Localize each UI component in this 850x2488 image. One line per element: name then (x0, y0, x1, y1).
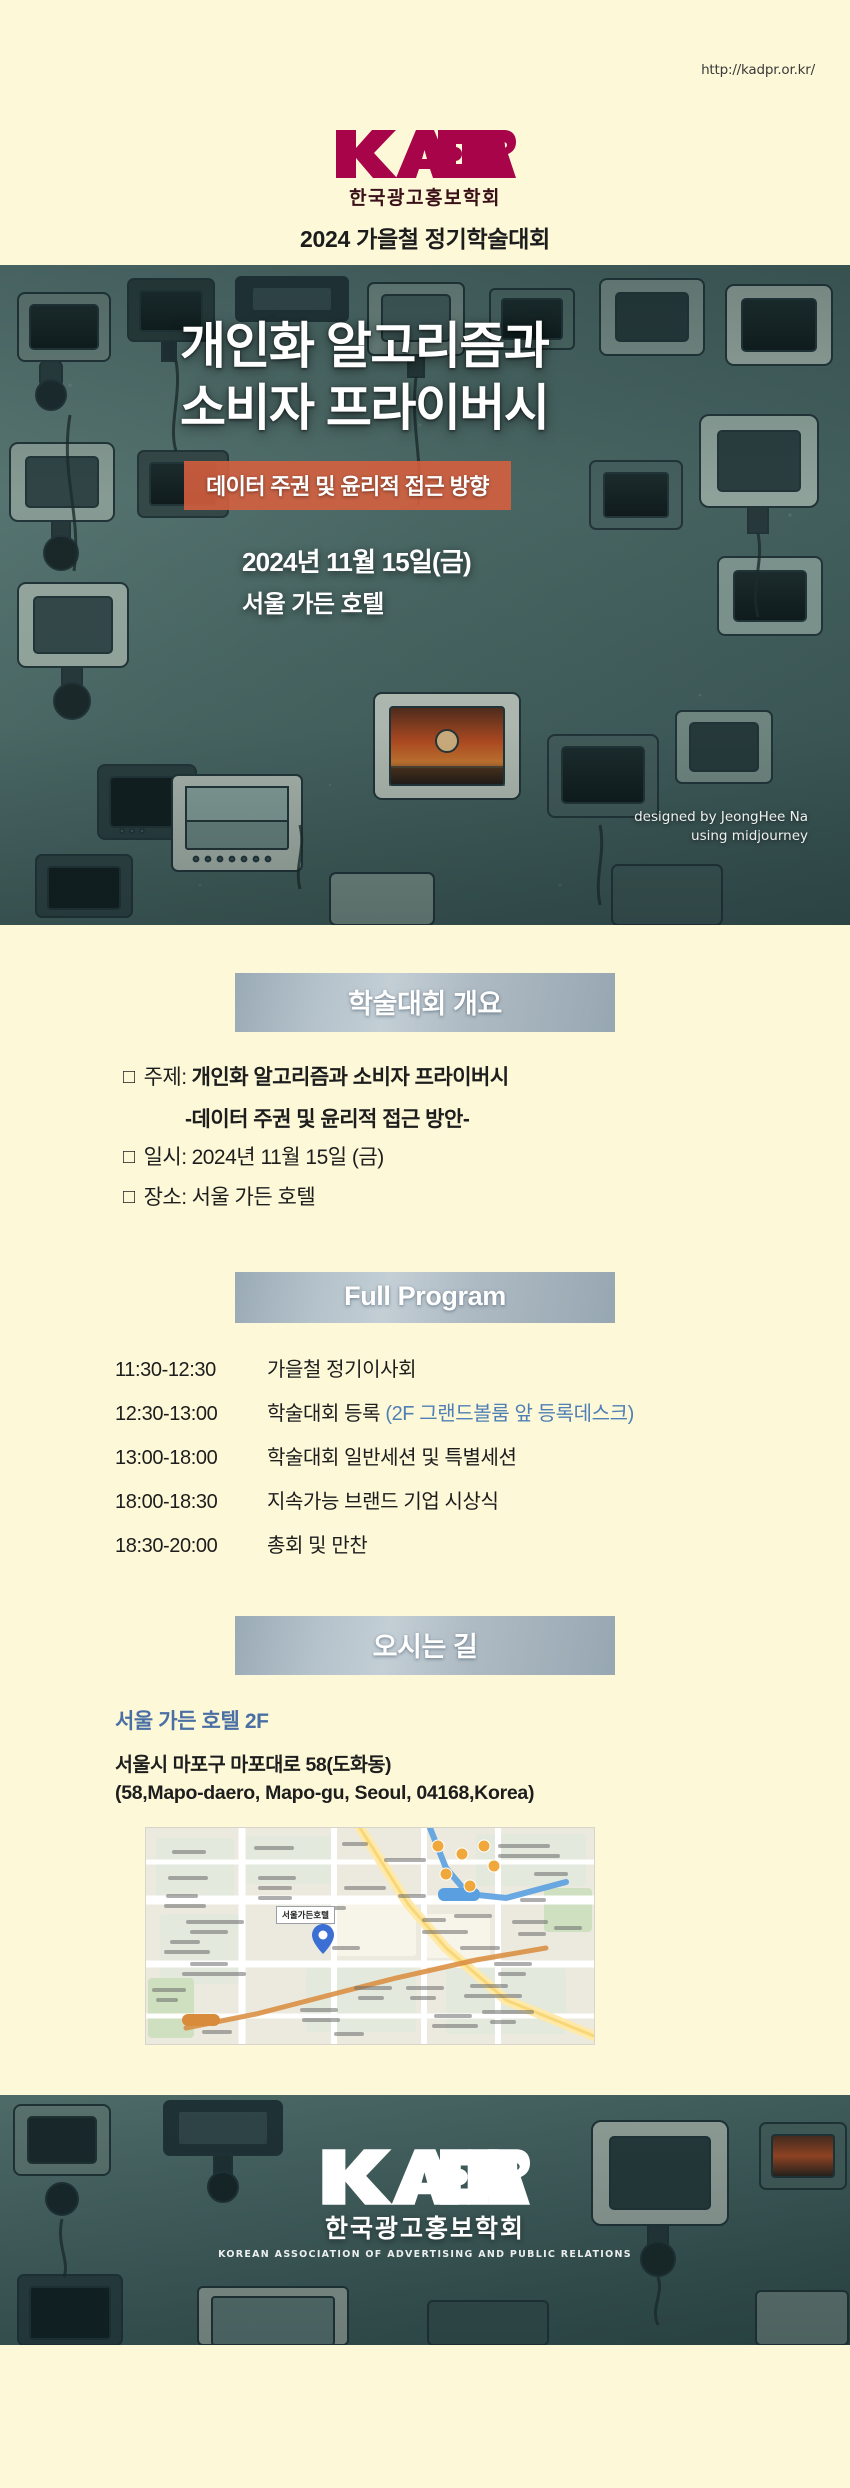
directions-venue: 서울 가든 호텔 2F (115, 1705, 745, 1735)
hero-text-block: 개인화 알고리즘과 소비자 프라이버시 데이터 주권 및 윤리적 접근 방향 2… (0, 315, 850, 619)
credit-line-2: using midjourney (634, 827, 808, 847)
program-row: 13:00-18:00 학술대회 일반세션 및 특별세션 (115, 1441, 745, 1470)
event-title: 2024 가을철 정기학술대회 (0, 220, 850, 254)
overview-label-date: 일시: (144, 1142, 187, 1174)
location-map[interactable]: 서울가든호텔 (145, 1827, 595, 2045)
directions-address-ko: 서울시 마포구 마포대로 58(도화동) (115, 1748, 745, 1777)
credit-line-1: designed by JeongHee Na (634, 808, 808, 828)
hero-date: 2024년 11월 15일(금) (242, 542, 850, 579)
overview-value-date: 2024년 11월 15일 (금) (192, 1142, 384, 1174)
program-desc: 가을철 정기이사회 (267, 1353, 745, 1382)
overview-label-place: 장소: (144, 1182, 187, 1214)
program-time: 11:30-12:30 (115, 1359, 267, 1382)
map-pin-icon (312, 1924, 334, 1954)
footer-brand-block: 한국광고홍보학회 KOREAN ASSOCIATION OF ADVERTISI… (0, 2147, 850, 2260)
overview-item-topic: □ 주제: 개인화 알고리즘과 소비자 프라이버시 (123, 1062, 735, 1094)
program-row: 12:30-13:00 학술대회 등록 (2F 그랜드볼룸 앞 등록데스크) (115, 1397, 745, 1426)
program-desc: 지속가능 브랜드 기업 시상식 (267, 1485, 745, 1514)
program-desc: 학술대회 일반세션 및 특별세션 (267, 1441, 745, 1470)
directions-address-en: (58,Mapo-daero, Mapo-gu, Seoul, 04168,Ko… (115, 1782, 745, 1805)
hero-subtitle-badge: 데이터 주권 및 윤리적 접근 방향 (184, 461, 511, 510)
program-desc: 총회 및 만찬 (267, 1529, 745, 1558)
program-heading: Full Program (235, 1272, 615, 1323)
program-time: 18:00-18:30 (115, 1491, 267, 1514)
header-brand-block: 한국광고홍보학회 2024 가을철 정기학술대회 (0, 128, 850, 254)
hero-title-line-2: 소비자 프라이버시 (180, 377, 850, 439)
overview-value-place: 서울 가든 호텔 (192, 1182, 316, 1214)
program-section: Full Program 11:30-12:30 가을철 정기이사회 12:30… (0, 1272, 850, 1558)
checkbox-icon: □ (123, 1062, 135, 1092)
website-url[interactable]: http://kadpr.or.kr/ (701, 62, 815, 78)
footer-association-en: KOREAN ASSOCIATION OF ADVERTISING AND PU… (0, 2249, 850, 2260)
overview-label-topic: 주제: (144, 1062, 187, 1094)
program-note: (2F 그랜드볼룸 앞 등록데스크) (385, 1403, 634, 1425)
program-row: 18:30-20:00 총회 및 만찬 (115, 1529, 745, 1558)
checkbox-icon: □ (123, 1142, 135, 1172)
overview-subtitle-topic: -데이터 주권 및 윤리적 접근 방안- (185, 1103, 735, 1133)
map-graphic (146, 1828, 594, 2044)
association-name-ko: 한국광고홍보학회 (0, 183, 850, 210)
program-list: 11:30-12:30 가을철 정기이사회 12:30-13:00 학술대회 등… (105, 1353, 745, 1558)
program-row: 11:30-12:30 가을철 정기이사회 (115, 1353, 745, 1382)
overview-list: □ 주제: 개인화 알고리즘과 소비자 프라이버시 -데이터 주권 및 윤리적 … (115, 1062, 735, 1214)
program-time: 18:30-20:00 (115, 1535, 267, 1558)
overview-section: 학술대회 개요 □ 주제: 개인화 알고리즘과 소비자 프라이버시 -데이터 주… (0, 973, 850, 1214)
hero-title-line-1: 개인화 알고리즘과 (180, 315, 850, 377)
overview-value-topic: 개인화 알고리즘과 소비자 프라이버시 (192, 1062, 509, 1094)
map-venue-label: 서울가든호텔 (276, 1906, 335, 1924)
checkbox-icon: □ (123, 1182, 135, 1212)
directions-block: 서울 가든 호텔 2F 서울시 마포구 마포대로 58(도화동) (58,Map… (105, 1705, 745, 2045)
kadpr-logo (334, 128, 516, 180)
overview-item-place: □ 장소: 서울 가든 호텔 (123, 1182, 735, 1214)
directions-heading: 오시는 길 (235, 1616, 615, 1675)
footer-association-ko: 한국광고홍보학회 (0, 2209, 850, 2245)
hero-section: 개인화 알고리즘과 소비자 프라이버시 데이터 주권 및 윤리적 접근 방향 2… (0, 265, 850, 925)
poster-header: http://kadpr.or.kr/ 한국 (0, 0, 850, 265)
program-time: 12:30-13:00 (115, 1403, 267, 1426)
program-row: 18:00-18:30 지속가능 브랜드 기업 시상식 (115, 1485, 745, 1514)
poster-body: 학술대회 개요 □ 주제: 개인화 알고리즘과 소비자 프라이버시 -데이터 주… (0, 925, 850, 2095)
kadpr-logo-footer (320, 2147, 530, 2207)
poster-footer: 한국광고홍보학회 KOREAN ASSOCIATION OF ADVERTISI… (0, 2095, 850, 2345)
program-desc: 학술대회 등록 (2F 그랜드볼룸 앞 등록데스크) (267, 1397, 745, 1426)
conference-poster: http://kadpr.or.kr/ 한국 (0, 0, 850, 2488)
designer-credit: designed by JeongHee Na using midjourney (634, 808, 808, 847)
overview-item-date: □ 일시: 2024년 11월 15일 (금) (123, 1142, 735, 1174)
hero-venue: 서울 가든 호텔 (242, 584, 850, 619)
program-time: 13:00-18:00 (115, 1447, 267, 1470)
overview-heading: 학술대회 개요 (235, 973, 615, 1032)
directions-section: 오시는 길 서울 가든 호텔 2F 서울시 마포구 마포대로 58(도화동) (… (0, 1616, 850, 2045)
